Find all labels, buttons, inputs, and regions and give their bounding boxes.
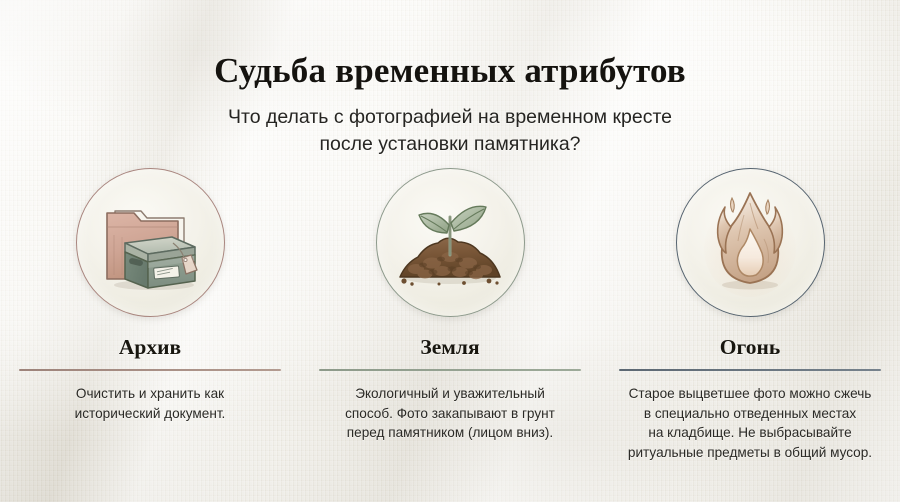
subtitle-line-1: Что делать с фотографией на временном кр… bbox=[228, 106, 672, 128]
page-title: Судьба временных атрибутов bbox=[0, 50, 900, 92]
option-column-archive: Архив Очистить и хранить как исторически… bbox=[0, 168, 300, 488]
body-line: ритуальные предметы в общий мусор. bbox=[616, 443, 884, 463]
soil-mound-sprout-icon bbox=[392, 193, 508, 293]
page-subtitle: Что делать с фотографией на временном кр… bbox=[0, 104, 900, 157]
option-heading-fire: Огонь bbox=[720, 335, 780, 360]
body-line: исторический документ. bbox=[16, 404, 284, 424]
option-heading-archive: Архив bbox=[119, 335, 181, 360]
body-line: перед памятником (лицом вниз). bbox=[316, 423, 584, 443]
flame-icon bbox=[698, 187, 802, 299]
body-line: на кладбище. Не выбрасывайте bbox=[616, 423, 884, 443]
body-line: в специально отведенных местах bbox=[616, 404, 884, 424]
body-line: Очистить и хранить как bbox=[16, 384, 284, 404]
slide-content: Судьба временных атрибутов Что делать с … bbox=[0, 0, 900, 502]
icon-badge-fire bbox=[676, 168, 825, 317]
divider-archive bbox=[19, 369, 281, 371]
option-columns: Архив Очистить и хранить как исторически… bbox=[0, 168, 900, 488]
option-body-earth: Экологичный и уважительный способ. Фото … bbox=[316, 384, 584, 443]
icon-badge-earth bbox=[376, 168, 525, 317]
option-heading-earth: Земля bbox=[420, 335, 479, 360]
divider-fire bbox=[619, 369, 881, 371]
option-body-archive: Очистить и хранить как исторический доку… bbox=[16, 384, 284, 423]
body-line: способ. Фото закапывают в грунт bbox=[316, 404, 584, 424]
body-line: Старое выцветшее фото можно сжечь bbox=[616, 384, 884, 404]
archive-box-folder-icon bbox=[94, 191, 206, 295]
option-body-fire: Старое выцветшее фото можно сжечь в спец… bbox=[616, 384, 884, 462]
option-column-earth: Земля Экологичный и уважительный способ.… bbox=[300, 168, 600, 488]
icon-badge-archive bbox=[76, 168, 225, 317]
option-column-fire: Огонь Старое выцветшее фото можно сжечь … bbox=[600, 168, 900, 488]
slide-canvas: Судьба временных атрибутов Что делать с … bbox=[0, 0, 900, 502]
subtitle-line-2: после установки памятника? bbox=[0, 131, 900, 158]
divider-earth bbox=[319, 369, 581, 371]
body-line: Экологичный и уважительный bbox=[316, 384, 584, 404]
